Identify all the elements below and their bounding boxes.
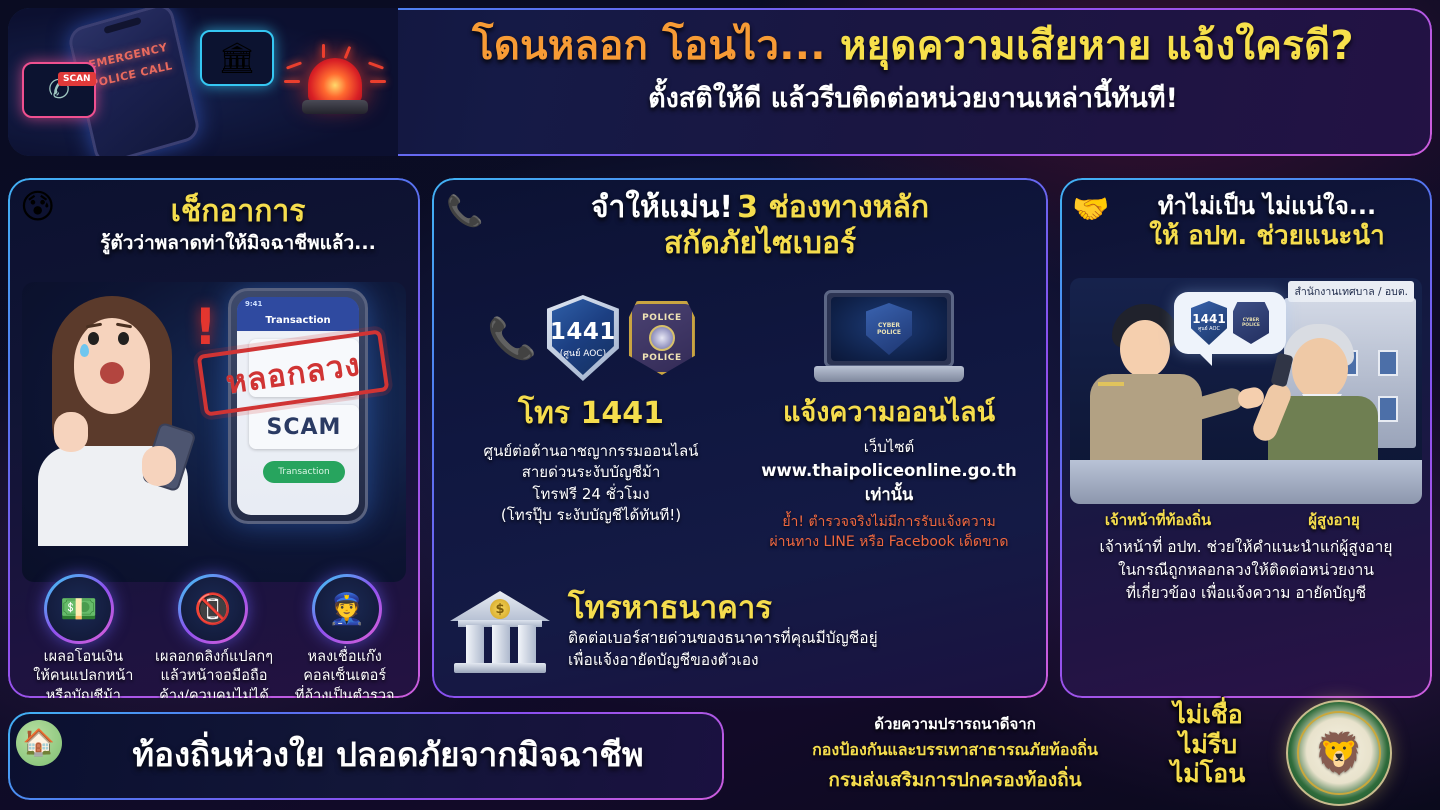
footer-slogan: ท้องถิ่นห่วงใย ปลอดภัยจากมิจฉาชีพ bbox=[68, 728, 708, 781]
right-panel-body: เจ้าหน้าที่ อปท. ช่วยให้คำแนะนำแก่ผู้สูง… bbox=[1072, 536, 1420, 605]
channel-online-warning-1: ย้ำ! ตำรวจจริงไม่มีการรับแจ้งความ bbox=[744, 513, 1034, 533]
right-panel-body-line-2: ในกรณีถูกหลอกลวงให้ติดต่อหน่วยงาน bbox=[1072, 559, 1420, 582]
channel-1441-line-1: ศูนย์ต่อต้านอาชญากรรมออนไลน์ bbox=[448, 441, 734, 462]
right-panel-heading: ทำไม่เป็น ไม่แน่ใจ... ให้ อปท. ช่วยแนะนำ bbox=[1114, 192, 1420, 252]
role-label-row: เจ้าหน้าที่ท้องถิ่น ผู้สูงอายุ bbox=[1070, 508, 1422, 532]
left-panel-subtitle: รู้ตัวว่าพลาดท่าให้มิจฉาชีพแล้ว... bbox=[64, 232, 412, 255]
officer-face bbox=[1120, 320, 1170, 378]
phone-app-bar: 9:41 Transaction bbox=[237, 297, 359, 331]
bubble-cyber-police-badge: CYBER POLICE bbox=[1233, 302, 1269, 344]
no-believe-slogan: ไม่เชื่อ ไม่รีบ ไม่โอน bbox=[1148, 700, 1268, 789]
header-banner: EMERGENCY POLICE CALL ✆ SCAN 🏛 bbox=[8, 8, 1432, 156]
symptom-caption-row: เผลอโอนเงินให้คนแปลกหน้าหรือบัญชีม้า เผล… bbox=[18, 648, 410, 698]
panel-three-channels: 📞 จำให้แม่น!3 ช่องทางหลัก สกัดภัยไซเบอร์… bbox=[432, 178, 1048, 698]
aoc-sub: (ศูนย์ AOC) bbox=[560, 346, 606, 360]
channel-1441-line-4: (โทรปุ๊บ ระงับบัญชีได้ทันที!) bbox=[448, 505, 734, 526]
middle-panel-title-line2: สกัดภัยไซเบอร์ bbox=[486, 226, 1034, 262]
channel-1441: 📞 1441 (ศูนย์ AOC) POLICE POLICE โทร bbox=[442, 290, 740, 570]
siren-dome bbox=[308, 58, 362, 102]
scam-call-bubble: ✆ SCAN bbox=[22, 62, 96, 118]
right-panel-body-line-1: เจ้าหน้าที่ อปท. ช่วยให้คำแนะนำแก่ผู้สูง… bbox=[1072, 536, 1420, 559]
credit-line-1: ด้วยความปรารถนาดีจาก bbox=[740, 712, 1170, 736]
header-illustration: EMERGENCY POLICE CALL ✆ SCAN 🏛 bbox=[8, 8, 398, 156]
bank-column-3 bbox=[518, 625, 536, 663]
aoc-shield-inner: 1441 (ศูนย์ AOC) bbox=[552, 299, 614, 375]
sweat-drop-icon bbox=[80, 344, 89, 357]
siren-light-icon bbox=[300, 58, 370, 116]
panel-local-authority-help: 🤝 ทำไม่เป็น ไม่แน่ใจ... ให้ อปท. ช่วยแนะ… bbox=[1060, 178, 1432, 698]
woman-mouth bbox=[100, 362, 124, 384]
symptom-caption-1: เผลอโอนเงินให้คนแปลกหน้าหรือบัญชีม้า bbox=[18, 648, 149, 698]
middle-panel-heading: จำให้แม่น!3 ช่องทางหลัก สกัดภัยไซเบอร์ bbox=[486, 190, 1034, 262]
laptop-keyboard-base bbox=[814, 366, 964, 382]
channel-bank-heading: โทรหาธนาคาร bbox=[568, 591, 1032, 625]
bank-text-block: โทรหาธนาคาร ติดต่อเบอร์สายด่วนของธนาคารท… bbox=[568, 591, 1032, 671]
phone-notch bbox=[103, 17, 141, 34]
worried-woman-figure bbox=[38, 296, 188, 546]
header-subtitle: ตั้งสติให้ดี แล้วรีบติดต่อหน่วยงานเหล่าน… bbox=[398, 76, 1428, 119]
house-icon: 🏠 bbox=[16, 720, 62, 766]
elder-mobile-phone bbox=[1270, 353, 1293, 388]
scan-tag: SCAN bbox=[58, 72, 96, 86]
role-label-elderly: ผู้สูงอายุ bbox=[1246, 508, 1422, 532]
officer-rank-stripe bbox=[1098, 382, 1124, 386]
role-label-officer: เจ้าหน้าที่ท้องถิ่น bbox=[1070, 508, 1246, 532]
laptop-screen: CYBER POLICE bbox=[831, 297, 947, 361]
scam-victim-illustration: ! 9:41 Transaction SCAM Transaction หลอก… bbox=[22, 282, 406, 582]
credit-line-3: กรมส่งเสริมการปกครองท้องถิ่น bbox=[740, 765, 1170, 795]
channel-online-report: CYBER POLICE แจ้งความออนไลน์ เว็บไซต์ ww… bbox=[740, 290, 1038, 570]
laptop-cyber-police-icon: CYBER POLICE bbox=[814, 290, 964, 386]
woman-hand-cheek bbox=[54, 412, 88, 452]
building-label: สำนักงานเทศบาล / อบต. bbox=[1288, 281, 1414, 302]
police-badge-seal bbox=[649, 325, 675, 351]
channel-1441-icons: 📞 1441 (ศูนย์ AOC) POLICE POLICE bbox=[442, 290, 740, 386]
police-badge-icon: POLICE POLICE bbox=[629, 301, 695, 375]
siren-base bbox=[302, 100, 368, 114]
woman-eye-left bbox=[88, 332, 99, 345]
phone-blocked-icon: 📵 bbox=[178, 574, 248, 644]
bank-base bbox=[454, 663, 546, 673]
panel-check-symptoms: 😰 เช็กอาการ รู้ตัวว่าพลาดท่าให้มิจฉาชีพแ… bbox=[8, 178, 420, 698]
fake-police-call-icon: 👮 bbox=[312, 574, 382, 644]
channel-online-website: www.thaipoliceonline.go.th เท่านั้น bbox=[744, 459, 1034, 506]
channel-bank-line-1: ติดต่อเบอร์สายด่วนของธนาคารที่คุณมีบัญชี… bbox=[568, 628, 1032, 650]
channel-bank-line-2: เพื่อแจ้งอายัดบัญชีของตัวเอง bbox=[568, 650, 1032, 672]
aoc-shield-icon: 1441 (ศูนย์ AOC) bbox=[547, 295, 619, 381]
bubble-aoc-number: 1441 bbox=[1192, 313, 1225, 325]
bubble-aoc-sub: ศูนย์ AOC bbox=[1198, 325, 1220, 333]
phone-scam-label: SCAM bbox=[249, 405, 359, 449]
header-title-part1: โดนหลอก โอนไว... bbox=[472, 23, 826, 69]
infographic-canvas: EMERGENCY POLICE CALL ✆ SCAN 🏛 bbox=[0, 0, 1440, 810]
channel-online-website-label: เว็บไซต์ bbox=[744, 437, 1034, 458]
phone-status-time: 9:41 bbox=[245, 300, 262, 308]
telephone-receiver-icon: 📞 bbox=[446, 194, 483, 229]
left-panel-heading: เช็กอาการ รู้ตัวว่าพลาดท่าให้มิจฉาชีพแล้… bbox=[64, 194, 412, 255]
cash-in-hand-icon: 💵 bbox=[44, 574, 114, 644]
laptop-lid: CYBER POLICE bbox=[824, 290, 954, 368]
symptom-caption-3: หลงเชื่อแก๊งคอลเซ็นเตอร์ที่อ้างเป็นตำรวจ… bbox=[279, 648, 410, 698]
right-panel-title-line1: ทำไม่เป็น ไม่แน่ใจ... bbox=[1114, 192, 1420, 221]
credit-line-2: กองป้องกันและบรรเทาสาธารณภัยท้องถิ่น bbox=[740, 738, 1170, 763]
fraud-stamp-text: หลอกลวง bbox=[222, 339, 363, 407]
exclamation-icon: ! bbox=[194, 298, 217, 356]
bubble-aoc-shield-icon: 1441 ศูนย์ AOC bbox=[1191, 301, 1227, 345]
handshake-icon: 🤝 bbox=[1072, 192, 1109, 227]
woman-hand-holding-phone bbox=[142, 446, 176, 486]
footer-credit-block: ด้วยความปรารถนาดีจาก กองป้องกันและบรรเทา… bbox=[740, 712, 1170, 795]
bank-bubble: 🏛 bbox=[200, 30, 274, 86]
local-office-illustration: สำนักงานเทศบาล / อบต. 1441 ศูนย์ AOC CYB… bbox=[1070, 278, 1422, 504]
bank-building-icon: $ bbox=[448, 587, 552, 675]
channel-bank: $ โทรหาธนาคาร ติดต่อเบอร์สายด่วนของธนาคา… bbox=[448, 578, 1032, 684]
right-panel-title-line2: ให้ อปท. ช่วยแนะนำ bbox=[1114, 221, 1420, 252]
bank-coin-icon: $ bbox=[490, 599, 510, 619]
anxious-face-icon: 😰 bbox=[20, 190, 55, 224]
channel-columns: 📞 1441 (ศูนย์ AOC) POLICE POLICE โทร bbox=[442, 290, 1038, 570]
left-panel-title: เช็กอาการ bbox=[64, 194, 412, 230]
bank-column-1 bbox=[466, 625, 484, 663]
service-counter bbox=[1070, 460, 1422, 504]
middle-title-yellow: 3 ช่องทางหลัก bbox=[737, 190, 929, 225]
right-panel-body-line-3: ที่เกี่ยวข้อง เพื่อแจ้งความ อายัดบัญชี bbox=[1072, 582, 1420, 605]
header-title: โดนหลอก โอนไว... หยุดความเสียหาย แจ้งใคร… bbox=[398, 22, 1428, 70]
police-badge-bottom-text: POLICE bbox=[642, 353, 682, 363]
bank-building-icon: 🏛 bbox=[218, 41, 256, 76]
symptom-icon-row: 💵 📵 👮 bbox=[22, 574, 406, 646]
no-slogan-line-2: ไม่รีบ bbox=[1148, 730, 1268, 760]
header-title-part2: หยุดความเสียหาย แจ้งใครดี? bbox=[840, 23, 1354, 69]
channel-1441-heading: โทร 1441 bbox=[448, 390, 734, 437]
ringing-phone-icon: 📞 bbox=[487, 315, 537, 362]
phone-transaction-button: Transaction bbox=[263, 461, 345, 483]
middle-panel-title-line1: จำให้แม่น!3 ช่องทางหลัก bbox=[486, 190, 1034, 226]
symptom-caption-2: เผลอกดลิงก์แปลกๆแล้วหน้าจอมือถือค้าง/ควบ… bbox=[149, 648, 280, 698]
emblem-lion-icon: 🦁 bbox=[1314, 730, 1364, 777]
no-slogan-line-3: ไม่โอน bbox=[1148, 759, 1268, 789]
channel-online-heading: แจ้งความออนไลน์ bbox=[744, 390, 1034, 433]
bank-column-2 bbox=[492, 625, 510, 663]
department-emblem: 🦁 bbox=[1286, 700, 1392, 806]
phone-app-title: Transaction bbox=[265, 315, 330, 326]
channel-online-icons: CYBER POLICE bbox=[740, 290, 1038, 386]
header-text-block: โดนหลอก โอนไว... หยุดความเสียหาย แจ้งใคร… bbox=[398, 22, 1428, 119]
middle-title-white: จำให้แม่น! bbox=[591, 190, 733, 225]
channel-1441-line-3: โทรฟรี 24 ชั่วโมง bbox=[448, 484, 734, 505]
cyber-police-badge: CYBER POLICE bbox=[866, 303, 912, 355]
channel-1441-line-2: สายด่วนระงับบัญชีม้า bbox=[448, 462, 734, 483]
woman-eye-right bbox=[118, 332, 129, 345]
aoc-number: 1441 bbox=[550, 321, 616, 344]
police-badge-top-text: POLICE bbox=[642, 313, 682, 323]
footer-slogan-bar: 🏠 ท้องถิ่นห่วงใย ปลอดภัยจากมิจฉาชีพ bbox=[8, 712, 724, 800]
no-slogan-line-1: ไม่เชื่อ bbox=[1148, 700, 1268, 730]
channel-online-warning-2: ผ่านทาง LINE หรือ Facebook เด็ดขาด bbox=[744, 533, 1034, 553]
elder-face bbox=[1292, 338, 1348, 400]
